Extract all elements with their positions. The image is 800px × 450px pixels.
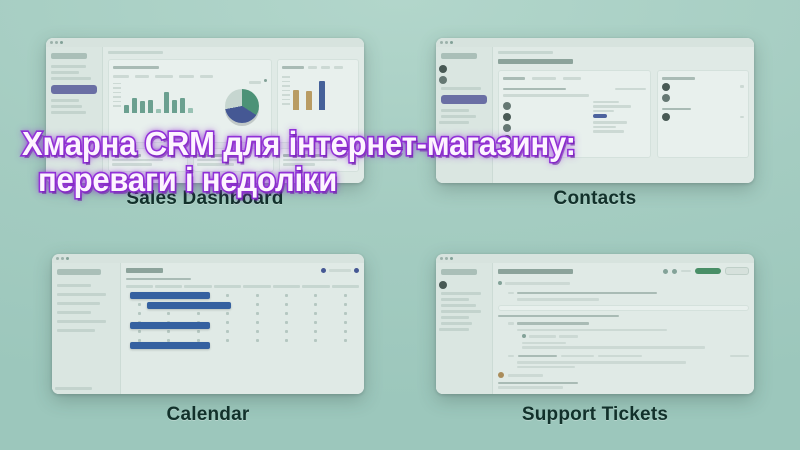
avatar [662,113,670,121]
window-titlebar [436,254,754,263]
avatar [439,76,447,84]
calendar-event[interactable] [147,302,231,309]
y-axis [113,83,121,113]
tab-notes[interactable] [563,77,581,80]
calendar-event[interactable] [130,322,209,329]
breadcrumb [498,51,553,54]
bar-chart-pipeline [293,76,325,110]
sidebar-item-people[interactable] [57,311,91,314]
sidebar-item-leads[interactable] [51,99,79,102]
primary-action-button[interactable] [695,268,721,274]
caption-calendar: Calendar [52,404,364,426]
calendar-event[interactable] [130,292,209,299]
sidebar-item-accounts[interactable] [51,105,82,108]
close-dot-icon [50,41,53,44]
slide-canvas: Sales Dashboard [0,0,800,450]
avatar [439,281,447,289]
sidebar-item-shifts[interactable] [57,302,100,305]
maximize-dot-icon [60,41,63,44]
user-badge-icon [498,372,504,378]
maximize-dot-icon [450,41,453,44]
window-titlebar [52,254,364,263]
sidebar-item-settings[interactable] [57,329,95,332]
avatar [662,83,670,91]
sidebar-item-tickets[interactable] [441,304,476,307]
sidebar-item-queues[interactable] [441,310,481,313]
sidebar-item-reports[interactable] [441,322,472,325]
sidebar-item-home[interactable] [441,87,481,90]
status-icon [498,281,502,285]
sidebar-item-assigned[interactable] [441,298,469,301]
avatar [439,65,447,73]
sidebar-item-plan[interactable] [57,293,106,296]
sidebar-item-deals[interactable] [441,109,469,112]
window-titlebar [436,38,754,47]
breadcrumb [108,51,163,54]
subtitle [126,278,191,281]
headline-line-2: переваги і недоліки [38,162,737,198]
page-title [498,269,573,274]
maximize-dot-icon [450,257,453,260]
tab-activity[interactable] [532,77,556,80]
filter-icon[interactable] [672,269,677,274]
close-dot-icon [440,41,443,44]
sidebar-item-settings[interactable] [51,111,86,114]
app-logo [441,53,477,59]
calendar-header-row [126,285,359,288]
card-support-tickets[interactable] [436,254,754,394]
headline-line-1: Хмарна CRM для інтернет-магазину: [22,126,736,162]
sidebar-item-deals[interactable] [51,77,91,80]
avatar [662,94,670,102]
sidebar-item-home[interactable] [57,284,91,287]
maximize-dot-icon [66,257,69,260]
sidebar-item-active[interactable] [51,85,97,94]
secondary-action-button[interactable] [725,267,749,275]
sidebar[interactable] [52,263,121,394]
avatar [503,102,511,110]
window-titlebar [46,38,364,47]
sidebar-item-macros[interactable] [441,316,469,319]
minimize-dot-icon [445,257,448,260]
bar-chart-revenue [124,83,193,113]
close-dot-icon [440,257,443,260]
avatar [503,113,511,121]
sidebar-item-inbox[interactable] [441,292,481,295]
sidebar-item-active[interactable] [441,95,487,104]
minimize-dot-icon [61,257,64,260]
page-title [126,268,163,273]
widget-title-revenue [113,66,159,69]
headline-overlay: Хмарна CRM для інтернет-магазину: перева… [22,126,782,198]
sidebar-footer [439,328,469,331]
tab-overview[interactable] [503,77,525,80]
sidebar-item-reports[interactable] [57,320,106,323]
search-icon[interactable] [663,269,668,274]
sidebar-item-overview[interactable] [51,65,86,68]
pie-chart-share [225,89,259,123]
app-logo [57,269,101,275]
app-logo [441,269,477,275]
sidebar-footer [439,121,469,124]
sidebar[interactable] [436,263,493,394]
sidebar-item-tasks[interactable] [441,115,476,118]
page-title [498,59,573,64]
caption-support-tickets: Support Tickets [436,404,754,426]
calendar-view-toggle[interactable] [321,267,359,274]
divider [498,305,749,311]
calendar-event[interactable] [130,342,209,349]
card-calendar[interactable] [52,254,364,394]
close-dot-icon [56,257,59,260]
sidebar-footer [55,387,92,390]
minimize-dot-icon [445,41,448,44]
calendar-row [126,309,359,318]
sidebar-item-reports[interactable] [51,71,79,74]
minimize-dot-icon [55,41,58,44]
status-badge [593,114,607,118]
app-logo [51,53,87,59]
